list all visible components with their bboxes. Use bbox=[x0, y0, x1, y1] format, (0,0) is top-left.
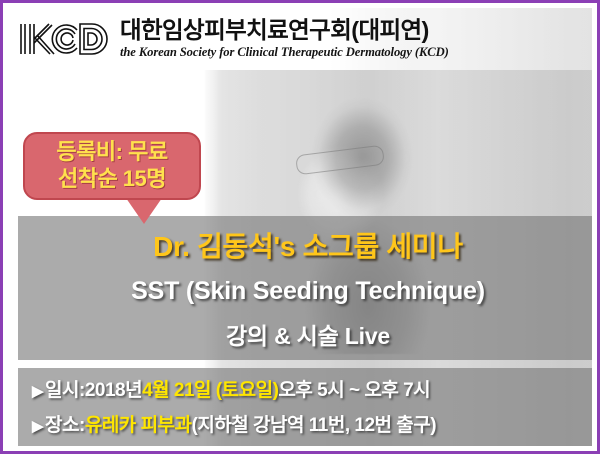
date-time: 오후 5시 ~ 오후 7시 bbox=[278, 381, 430, 401]
bubble-tail-icon bbox=[126, 198, 162, 224]
date-label: 일시: bbox=[45, 381, 85, 401]
date-row: ▶ 일시: 2018년 4월 21일 (토요일) 오후 5시 ~ 오후 7시 bbox=[32, 381, 594, 401]
info-band: ▶ 일시: 2018년 4월 21일 (토요일) 오후 5시 ~ 오후 7시 ▶… bbox=[18, 368, 594, 448]
org-name-english: the Korean Society for Clinical Therapeu… bbox=[120, 46, 449, 59]
title-band: Dr. 김동석's 소그룹 세미나 SST (Skin Seeding Tech… bbox=[18, 216, 594, 360]
seminar-poster: 대한임상피부치료연구회(대피연) the Korean Society for … bbox=[0, 0, 600, 454]
poster-inner-frame: 대한임상피부치료연구회(대피연) the Korean Society for … bbox=[6, 6, 594, 448]
org-name-korean: 대한임상피부치료연구회(대피연) bbox=[120, 19, 449, 43]
date-highlight: 4월 21일 (토요일) bbox=[142, 381, 278, 401]
date-year: 2018년 bbox=[85, 381, 142, 401]
seminar-title: Dr. 김동석's 소그룹 세미나 bbox=[153, 225, 463, 265]
place-row: ▶ 장소: 유레카 피부과 (지하철 강남역 11번, 12번 출구) bbox=[32, 416, 594, 436]
place-directions: (지하철 강남역 11번, 12번 출구) bbox=[192, 416, 437, 436]
registration-limit-line: 선착순 15명 bbox=[58, 166, 166, 193]
organization-name-block: 대한임상피부치료연구회(대피연) the Korean Society for … bbox=[120, 19, 449, 58]
seminar-subtitle-technique: SST (Skin Seeding Technique) bbox=[131, 277, 485, 306]
registration-bubble: 등록비: 무료 선착순 15명 bbox=[23, 132, 201, 200]
seminar-subtitle-format: 강의 & 시술 Live bbox=[226, 317, 390, 351]
poster-header: 대한임상피부치료연구회(대피연) the Korean Society for … bbox=[8, 8, 592, 70]
kcd-logo-icon bbox=[18, 20, 110, 58]
triangle-bullet-icon: ▶ bbox=[32, 384, 43, 399]
place-label: 장소: bbox=[45, 416, 85, 436]
place-highlight: 유레카 피부과 bbox=[85, 416, 192, 436]
triangle-bullet-icon: ▶ bbox=[32, 419, 43, 434]
registration-fee-line: 등록비: 무료 bbox=[56, 139, 167, 166]
